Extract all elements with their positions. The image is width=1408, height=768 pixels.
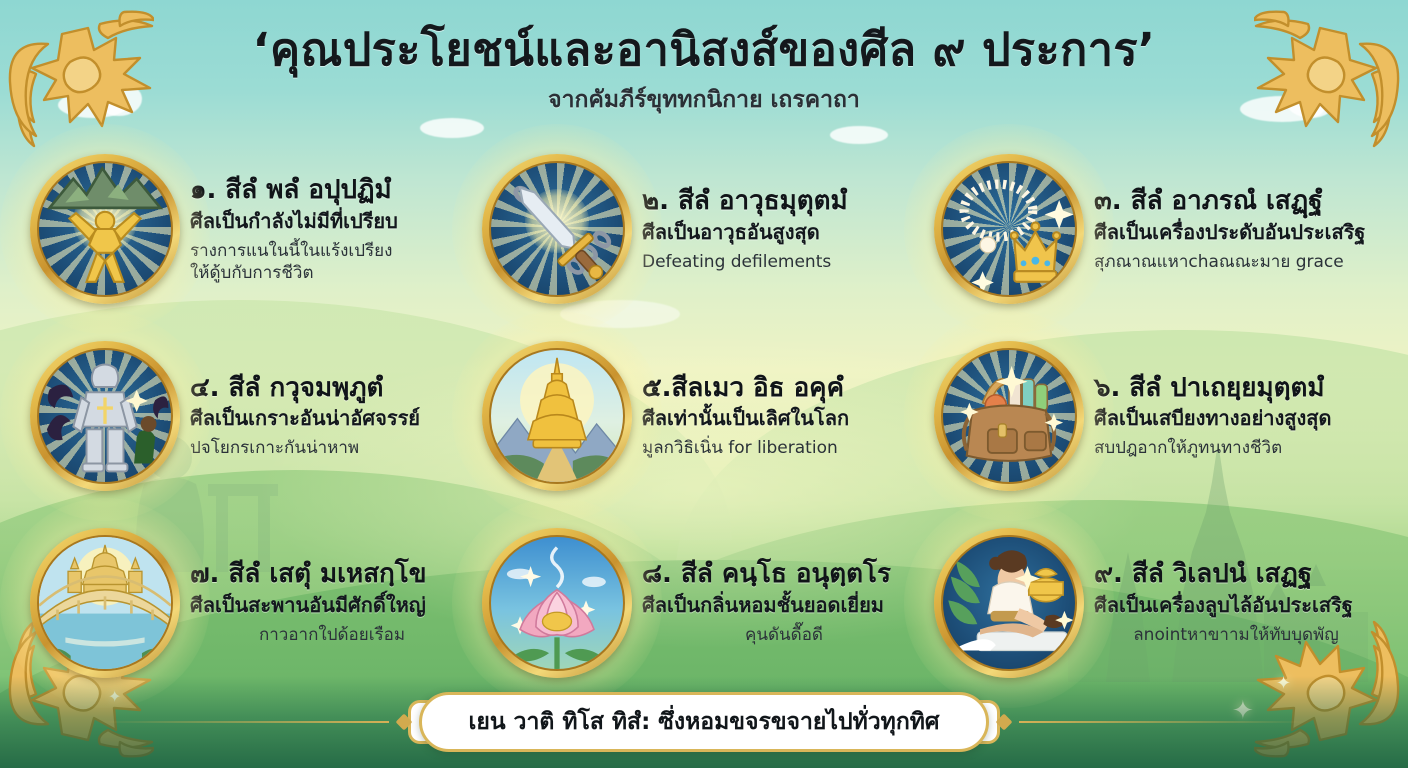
benefit-text-7: ๗. สีลํ เสตุํ มเหสกฺโข ศีลเป็นสะพานอันมี…: [190, 559, 474, 646]
benefit-note-line: Defeating defilements: [642, 251, 926, 273]
golden-stupa-mountain-icon: [491, 350, 623, 482]
benefit-note: ลnointหาขาามให้ทับบุดพัญ: [1094, 624, 1378, 646]
benefit-item-5[interactable]: ๕.สีลเมว อิธ อคุคํ ศีลเท่านั้นเป็นเลิศใน…: [478, 323, 930, 510]
benefit-note-line: ให้ดู้บกับการชีวิต: [190, 262, 474, 284]
benefit-subheading: ศีลเป็นเครื่องประดับอันประเสริฐ: [1094, 220, 1378, 244]
medallion-disc: [941, 161, 1077, 297]
benefit-heading: ๔. สีลํ กวุจมพฺภูตํ: [190, 373, 474, 404]
benefit-subheading: ศีลเป็นเสบียงทางอย่างสูงสุด: [1094, 406, 1378, 430]
benefit-text-3: ๓. สีลํ อาภรณํ เสฏฺฐํ ศีลเป็นเครื่องประด…: [1094, 186, 1378, 273]
benefit-text-1: ๑. สีลํ พลํ อปุปฏิมํ ศีลเป็นกำลังไม่มีที…: [190, 175, 474, 284]
benefit-item-4[interactable]: ๔. สีลํ กวุจมพฺภูตํ ศีลเป็นเกราะอันน่าอั…: [26, 323, 478, 510]
benefit-note-line: มูลกวิธิเนิ่น for liberation: [642, 437, 926, 459]
benefit-note-line: ลnointหาขาามให้ทับบุดพัญ: [1094, 624, 1378, 646]
benefit-note: กาวอากใปด้อยเรือม: [190, 624, 474, 646]
golden-bridge-temple-icon: [39, 537, 171, 669]
benefit-item-9[interactable]: ๙. สีลํ วิเลปนํ เสฏฐ ศีลเป็นเครื่องลูบไล…: [930, 509, 1382, 696]
infographic-poster: ‘คุณประโยชน์และอานิสงส์ของศีล ๙ ประการ’ …: [0, 0, 1408, 768]
benefit-text-5: ๕.สีลเมว อิธ อคุคํ ศีลเท่านั้นเป็นเลิศใน…: [642, 373, 926, 460]
benefit-heading: ๕.สีลเมว อิธ อคุคํ: [642, 373, 926, 404]
benefit-note-line: ปจโยกรเกาะกันน่าหาพ: [190, 437, 474, 459]
benefit-heading: ๗. สีลํ เสตุํ มเหสกฺโข: [190, 559, 474, 590]
benefit-note: Defeating defilements: [642, 251, 926, 273]
page-subtitle: จากคัมภีร์ขุททกนิกาย เถรคาถา: [0, 82, 1408, 118]
benefit-item-7[interactable]: ๗. สีลํ เสตุํ มเหสกฺโข ศีลเป็นสะพานอันมี…: [26, 509, 478, 696]
poster-header: ‘คุณประโยชน์และอานิสงส์ของศีล ๙ ประการ’ …: [0, 24, 1408, 118]
benefit-note-line: สบปฎอากให้ภูทนทางชีวิต: [1094, 437, 1378, 459]
medallion-gold-ring: [482, 528, 632, 678]
medallion-disc: [37, 348, 173, 484]
armor-knight-shield-icon: [39, 350, 171, 482]
medallion-gold-ring: [482, 341, 632, 491]
benefit-subheading: ศีลเป็นเกราะอันน่าอัศจรรย์: [190, 406, 474, 430]
benefit-note: ปจโยกรเกาะกันน่าหาพ: [190, 437, 474, 459]
benefit-note: รางการแนในนี้ในแร้งเปรียง ให้ดู้บกับการช…: [190, 240, 474, 284]
benefit-text-8: ๘. สีลํ คนฺโธ อนุตฺตโร ศีลเป็นกลิ่นหอมชั…: [642, 559, 926, 646]
strongman-lifting-mountain-icon: [39, 163, 171, 295]
benefit-subheading: ศีลเป็นอาวุธอันสูงสุด: [642, 220, 926, 244]
medallion-disc: [941, 535, 1077, 671]
benefit-heading: ๑. สีลํ พลํ อปุปฏิมํ: [190, 175, 474, 206]
benefit-heading: ๒. สีลํ อาวุธมุตุตมํ: [642, 186, 926, 217]
sword-breaking-chains-icon: [491, 163, 623, 295]
benefit-note: มูลกวิธิเนิ่น for liberation: [642, 437, 926, 459]
medallion-8[interactable]: [482, 528, 632, 678]
medallion-gold-ring: [934, 154, 1084, 304]
medallion-gold-ring: [30, 154, 180, 304]
benefits-grid: ๑. สีลํ พลํ อปุปฏิมํ ศีลเป็นกำลังไม่มีที…: [26, 136, 1382, 696]
benefit-subheading: ศีลเท่านั้นเป็นเลิศในโลก: [642, 406, 926, 430]
medallion-disc: [941, 348, 1077, 484]
benefit-text-6: ๖. สีลํ ปาเถยฺยมุตฺตมํ ศีลเป็นเสบียงทางอ…: [1094, 373, 1378, 460]
benefit-note: สบปฎอากให้ภูทนทางชีวิต: [1094, 437, 1378, 459]
medallion-4[interactable]: [30, 341, 180, 491]
medallion-disc: [489, 161, 625, 297]
benefit-note-line: สุภณาณแหาchaณณะมาย grace: [1094, 251, 1378, 273]
benefit-heading: ๖. สีลํ ปาเถยฺยมุตฺตมํ: [1094, 373, 1378, 404]
medallion-disc: [489, 348, 625, 484]
medallion-9[interactable]: [934, 528, 1084, 678]
benefit-item-3[interactable]: ๓. สีลํ อาภรณํ เสฏฺฐํ ศีลเป็นเครื่องประด…: [930, 136, 1382, 323]
medallion-6[interactable]: [934, 341, 1084, 491]
page-title: ‘คุณประโยชน์และอานิสงส์ของศีล ๙ ประการ’: [0, 24, 1408, 76]
travel-bag-provisions-icon: [943, 350, 1075, 482]
benefit-subheading: ศีลเป็นเครื่องลูบไล้อันประเสริฐ: [1094, 593, 1378, 617]
medallion-gold-ring: [30, 341, 180, 491]
medallion-disc: [489, 535, 625, 671]
lotus-fragrance-icon: [491, 537, 623, 669]
footer-text: เยน วาติ ทิโส ทิสํ: ซึ่งหอมขจรขจายไปทั่ว…: [468, 704, 939, 740]
benefit-text-4: ๔. สีลํ กวุจมพฺภูตํ ศีลเป็นเกราะอันน่าอั…: [190, 373, 474, 460]
benefit-note-line: รางการแนในนี้ในแร้งเปรียง: [190, 240, 474, 262]
medallion-disc: [37, 161, 173, 297]
footer-rule-right: [1019, 721, 1309, 723]
thai-massage-balm-icon: [943, 537, 1075, 669]
cloud-icon: [420, 118, 484, 138]
benefit-note: คุนดันดื๊อดี: [642, 624, 926, 646]
benefit-subheading: ศีลเป็นกำลังไม่มีที่เปรียบ: [190, 209, 474, 233]
medallion-disc: [37, 535, 173, 671]
benefit-subheading: ศีลเป็นสะพานอันมีศักดิ์ใหญ่: [190, 593, 474, 617]
medallion-gold-ring: [482, 154, 632, 304]
benefit-text-9: ๙. สีลํ วิเลปนํ เสฏฐ ศีลเป็นเครื่องลูบไล…: [1094, 559, 1378, 646]
medallion-7[interactable]: [30, 528, 180, 678]
benefit-item-8[interactable]: ๘. สีลํ คนฺโธ อนุตฺตโร ศีลเป็นกลิ่นหอมชั…: [478, 509, 930, 696]
benefit-text-2: ๒. สีลํ อาวุธมุตุตมํ ศีลเป็นอาวุธอันสูงส…: [642, 186, 926, 273]
footer-ribbon-area: เยน วาติ ทิโส ทิสํ: ซึ่งหอมขจรขจายไปทั่ว…: [0, 692, 1408, 752]
benefit-item-2[interactable]: ๒. สีลํ อาวุธมุตุตมํ ศีลเป็นอาวุธอันสูงส…: [478, 136, 930, 323]
footer-rule-left: [99, 721, 389, 723]
benefit-heading: ๙. สีลํ วิเลปนํ เสฏฐ: [1094, 559, 1378, 590]
pearl-necklace-crown-icon: [943, 163, 1075, 295]
benefit-note-line: คุนดันดื๊อดี: [642, 624, 926, 646]
medallion-gold-ring: [30, 528, 180, 678]
benefit-note-line: กาวอากใปด้อยเรือม: [190, 624, 474, 646]
benefit-heading: ๘. สีลํ คนฺโธ อนุตฺตโร: [642, 559, 926, 590]
medallion-gold-ring: [934, 528, 1084, 678]
medallion-5[interactable]: [482, 341, 632, 491]
benefit-item-1[interactable]: ๑. สีลํ พลํ อปุปฏิมํ ศีลเป็นกำลังไม่มีที…: [26, 136, 478, 323]
medallion-2[interactable]: [482, 154, 632, 304]
benefit-item-6[interactable]: ๖. สีลํ ปาเถยฺยมุตฺตมํ ศีลเป็นเสบียงทางอ…: [930, 323, 1382, 510]
benefit-note: สุภณาณแหาchaณณะมาย grace: [1094, 251, 1378, 273]
medallion-3[interactable]: [934, 154, 1084, 304]
medallion-1[interactable]: [30, 154, 180, 304]
benefit-heading: ๓. สีลํ อาภรณํ เสฏฺฐํ: [1094, 186, 1378, 217]
footer-ribbon: เยน วาติ ทิโส ทิสํ: ซึ่งหอมขจรขจายไปทั่ว…: [419, 692, 988, 752]
medallion-gold-ring: [934, 341, 1084, 491]
benefit-subheading: ศีลเป็นกลิ่นหอมชั้นยอดเยี่ยม: [642, 593, 926, 617]
